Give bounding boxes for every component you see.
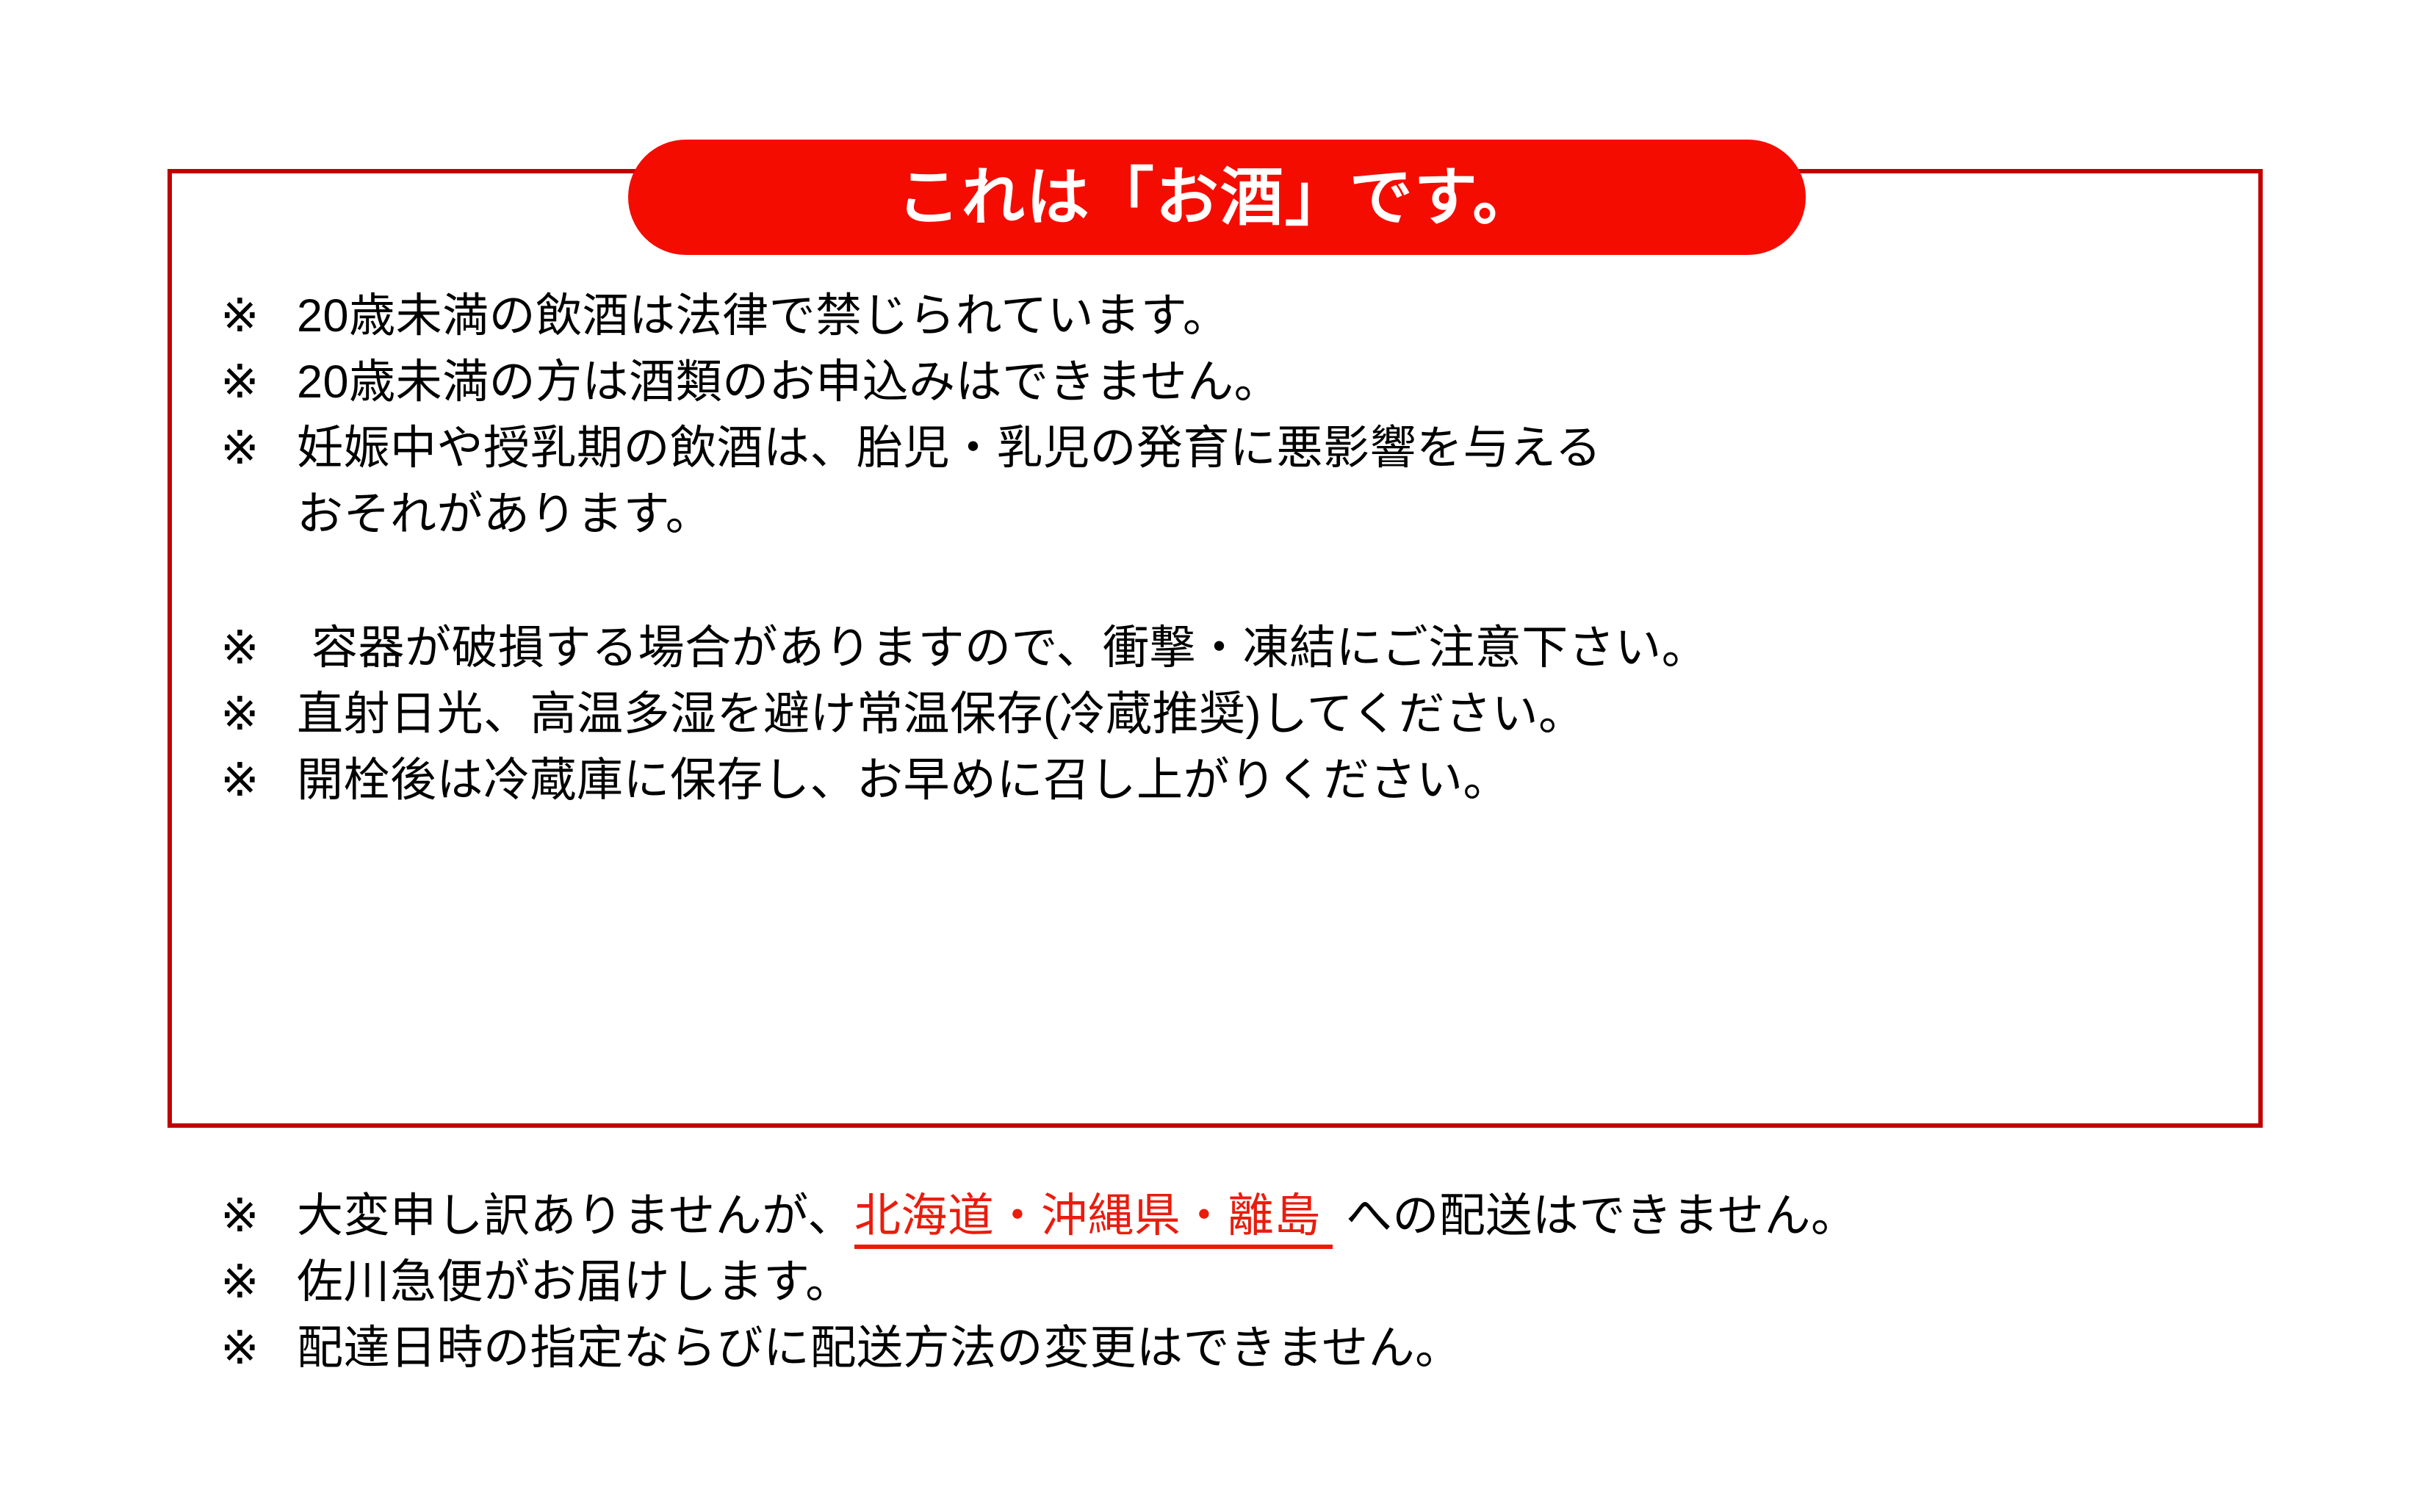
note-marker-icon: ※ xyxy=(220,681,297,747)
note-marker-icon: ※ xyxy=(220,415,297,481)
note-line: ※ 開栓後は冷蔵庫に保存し、お早めに召し上がりください。 xyxy=(220,747,2248,813)
note-line: ※ 直射日光、高温多湿を避け常温保存(冷蔵推奨)してください。 xyxy=(220,681,2248,747)
note-marker-icon: ※ xyxy=(220,1315,297,1381)
paragraph-spacer xyxy=(220,547,2248,615)
shipping-line-schedule-text: 配達日時の指定ならびに配送方法の変更はできません。 xyxy=(297,1315,1462,1381)
note-marker-icon: ※ xyxy=(220,615,311,681)
alcohol-notice-page: これは「お酒」です。 ※ 20歳未満の飲酒は法律で禁じられています。 ※ 20歳… xyxy=(0,0,2428,1512)
shipping-region-suffix: への配送はできません。 xyxy=(1333,1190,1858,1242)
note-text: 開栓後は冷蔵庫に保存し、お早めに召し上がりください。 xyxy=(297,747,1510,813)
excluded-regions-highlight: 北海道・沖縄県・離島 xyxy=(854,1190,1333,1249)
shipping-line-region: ※ 大変申し訳ありませんが、北海道・沖縄県・離島 への配送はできません。 xyxy=(220,1183,2351,1249)
shipping-region-prefix: 大変申し訳ありませんが、 xyxy=(297,1190,854,1242)
notice-list-inside: ※ 20歳未満の飲酒は法律で禁じられています。 ※ 20歳未満の方は酒類のお申込… xyxy=(220,283,2248,813)
shipping-line-region-text: 大変申し訳ありませんが、北海道・沖縄県・離島 への配送はできません。 xyxy=(297,1183,1857,1249)
shipping-line-schedule: ※ 配達日時の指定ならびに配送方法の変更はできません。 xyxy=(220,1315,2351,1381)
note-text: 20歳未満の飲酒は法律で禁じられています。 xyxy=(297,283,1229,349)
note-text: 20歳未満の方は酒類のお申込みはできません。 xyxy=(297,349,1280,415)
alcohol-badge-label: これは「お酒」です。 xyxy=(897,166,1537,229)
alcohol-badge: これは「お酒」です。 xyxy=(628,140,1806,255)
note-marker-icon: ※ xyxy=(220,1249,297,1315)
note-text: 直射日光、高温多湿を避け常温保存(冷蔵推奨)してください。 xyxy=(297,681,1585,747)
note-text: 妊娠中や授乳期の飲酒は、胎児・乳児の発育に悪影響を与える xyxy=(297,415,1602,481)
note-line-continuation: ※ おそれがあります。 xyxy=(220,481,2248,547)
note-line: ※ 20歳未満の方は酒類のお申込みはできません。 xyxy=(220,349,2248,415)
shipping-line-carrier: ※ 佐川急便がお届けします。 xyxy=(220,1249,2351,1315)
note-marker-icon: ※ xyxy=(220,1183,297,1249)
note-marker-icon: ※ xyxy=(220,283,297,349)
note-marker-icon: ※ xyxy=(220,349,297,415)
note-line: ※ 20歳未満の飲酒は法律で禁じられています。 xyxy=(220,283,2248,349)
note-line: ※ 容器が破損する場合がありますので、衝撃・凍結にご注意下さい。 xyxy=(220,615,2248,681)
note-text: 容器が破損する場合がありますので、衝撃・凍結にご注意下さい。 xyxy=(311,615,1708,681)
note-line: ※ 妊娠中や授乳期の飲酒は、胎児・乳児の発育に悪影響を与える xyxy=(220,415,2248,481)
shipping-list: ※ 大変申し訳ありませんが、北海道・沖縄県・離島 への配送はできません。 ※ 佐… xyxy=(220,1183,2351,1381)
note-text: おそれがあります。 xyxy=(297,481,712,547)
shipping-line-carrier-text: 佐川急便がお届けします。 xyxy=(297,1249,852,1315)
note-marker-icon: ※ xyxy=(220,747,297,813)
